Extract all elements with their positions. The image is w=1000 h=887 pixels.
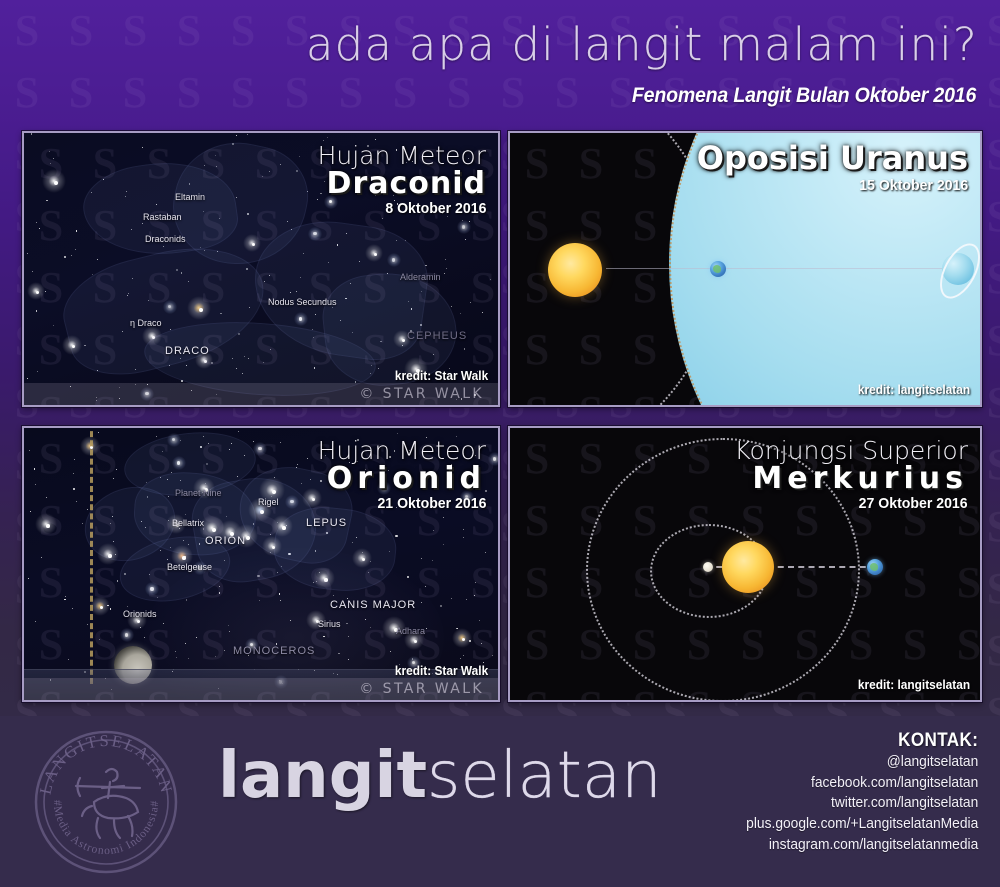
panel-orionid[interactable]: SSSSSSSSSSSSSSSSSSSSSSSSSSSSSSSSSSSSSSSS… <box>22 426 500 702</box>
orionid-watermark-bar: © STAR WALK <box>24 678 498 700</box>
draconid-heading: Hujan Meteor Draconid 8 Oktober 2016 <box>318 143 486 218</box>
earth-icon <box>867 559 883 575</box>
draconid-watermark-bar: © STAR WALK <box>24 383 498 405</box>
star-label: DRACO <box>165 345 210 357</box>
draconid-date: 8 Oktober 2016 <box>328 201 486 218</box>
star-label: Alderamin <box>400 272 441 282</box>
orionid-credit: kredit: Star Walk <box>395 664 488 678</box>
draconid-credit: kredit: Star Walk <box>395 369 488 383</box>
panel-draconid[interactable]: SSSSSSSSSSSSSSSSSSSSSSSSSSSSSSSSSSSSSSSS… <box>22 131 500 407</box>
mercury-icon <box>703 562 713 572</box>
star-label: ORION <box>205 535 246 547</box>
ecliptic-line <box>90 428 93 684</box>
langitselatan-seal-logo: LANGITSELATAN #Media Astronomi Indonesia… <box>32 728 180 876</box>
wordmark-selatan: selatan <box>427 739 662 813</box>
merkurius-name: Merkurius <box>734 463 968 495</box>
star-label: Orionids <box>123 609 157 619</box>
star-label: MONOCEROS <box>233 645 315 657</box>
langitselatan-wordmark: langitselatan <box>218 744 662 808</box>
star-label: CANIS MAJOR <box>330 599 416 611</box>
orionid-name: Orionid <box>318 463 486 495</box>
merkurius-date: 27 Oktober 2016 <box>748 496 968 513</box>
star-label: Nodus Secundus <box>268 297 337 307</box>
opposition-sight-line <box>606 268 960 269</box>
contact-line[interactable]: twitter.com/langitselatan <box>746 793 978 814</box>
contact-line[interactable]: instagram.com/langitselatanmedia <box>746 835 978 856</box>
star-label: Rastaban <box>143 212 182 222</box>
star-walk-watermark: © STAR WALK <box>359 386 484 402</box>
star-label: Rigel <box>258 497 279 507</box>
star-label: Draconids <box>145 234 186 244</box>
contact-block: KONTAK: @langitselatanfacebook.com/langi… <box>726 730 978 855</box>
merkurius-heading: Konjungsi Superior Merkurius 27 Oktober … <box>734 438 968 513</box>
contact-line[interactable]: @langitselatan <box>746 752 978 773</box>
contact-line[interactable]: facebook.com/langitselatan <box>746 773 978 794</box>
infographic-poster: SSSSSSSSSSSSSSSSSSSSSSSSSSSSSSSSSSSSSSSS… <box>0 0 1000 887</box>
star-label: Planet Nine <box>175 488 222 498</box>
star-label: CEPHEUS <box>407 330 467 342</box>
draconid-kicker: Hujan Meteor <box>318 143 486 169</box>
merkurius-credit: kredit: langitselatan <box>858 678 970 692</box>
star-label: Bellatrix <box>172 518 204 528</box>
contact-line[interactable]: plus.google.com/+LangitselatanMedia <box>746 814 978 835</box>
star-label: η Draco <box>130 318 162 328</box>
star-walk-watermark: © STAR WALK <box>359 681 484 697</box>
star-label: Eltamin <box>175 192 205 202</box>
wordmark-langit: langit <box>218 739 427 813</box>
uranus-name: Oposisi Uranus <box>697 142 968 176</box>
uranus-date: 15 Oktober 2016 <box>713 178 968 195</box>
orionid-heading: Hujan Meteor Orionid 21 Oktober 2016 <box>318 438 486 513</box>
earth-icon <box>710 261 726 277</box>
orionid-date: 21 Oktober 2016 <box>328 496 486 513</box>
orionid-kicker: Hujan Meteor <box>318 438 486 464</box>
uranus-credit: kredit: langitselatan <box>858 383 970 397</box>
svg-text:#Media Astronomi Indonesia#: #Media Astronomi Indonesia# <box>51 800 161 857</box>
page-subtitle: Fenomena Langit Bulan Oktober 2016 <box>632 84 976 108</box>
contact-heading: KONTAK: <box>751 730 978 752</box>
star-label: LEPUS <box>306 517 347 529</box>
sun-icon <box>722 541 774 593</box>
star-label: Betelgeuse <box>167 562 212 572</box>
star-label: Adhara <box>396 626 425 636</box>
draconid-name: Draconid <box>318 168 486 200</box>
sun-icon <box>548 243 602 297</box>
page-title: ada apa di langit malam ini? <box>306 22 978 67</box>
header: ada apa di langit malam ini? Fenomena La… <box>0 0 1000 120</box>
star-label: Sirius <box>318 619 341 629</box>
panel-konjungsi-merkurius[interactable]: SSSSSSSSSSSSSSSSSSSSSSSSSSSSSSSSSSSSSSSS… <box>508 426 982 702</box>
panel-oposisi-uranus[interactable]: SSSSSSSSSSSSSSSSSSSSSSSSSSSSSSSSSSSSSSSS… <box>508 131 982 407</box>
uranus-heading: Oposisi Uranus 15 Oktober 2016 <box>697 143 968 194</box>
merkurius-kicker: Konjungsi Superior <box>734 438 968 464</box>
